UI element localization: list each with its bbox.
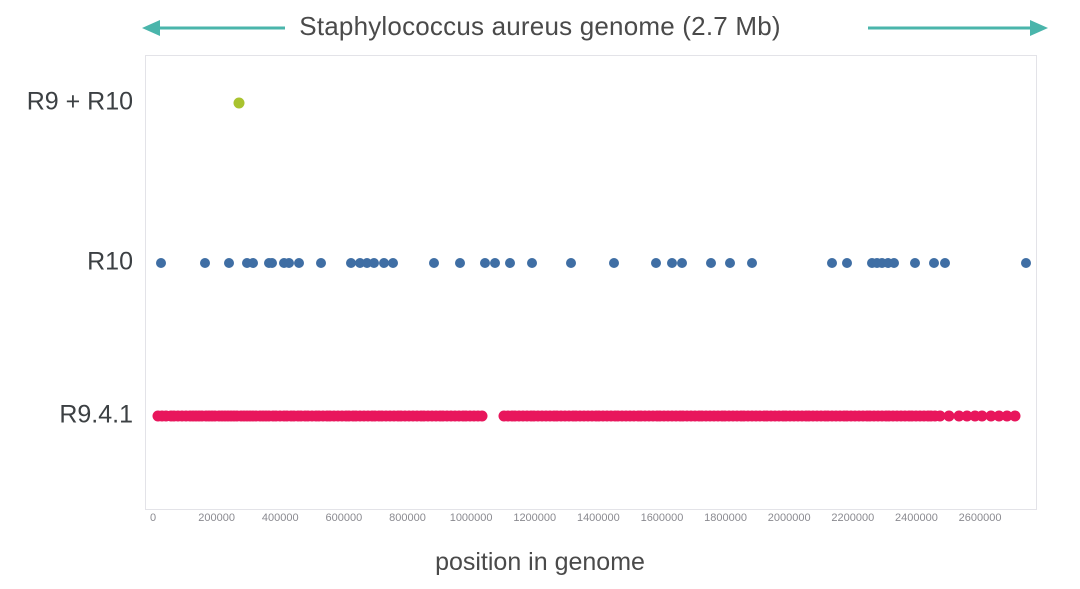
data-point	[505, 258, 515, 268]
y-category-label-r941: R9.4.1	[0, 401, 133, 430]
data-point	[234, 98, 245, 109]
data-point	[747, 258, 757, 268]
data-point	[455, 258, 465, 268]
data-point	[200, 258, 210, 268]
data-point	[842, 258, 852, 268]
data-point	[429, 258, 439, 268]
data-point	[527, 258, 537, 268]
data-point	[677, 258, 687, 268]
data-point	[490, 258, 500, 268]
data-point	[910, 258, 920, 268]
x-axis-tick-label: 400000	[262, 512, 299, 524]
y-category-label-r10: R10	[0, 248, 133, 277]
data-point	[706, 258, 716, 268]
x-axis-ticks: 0200000400000600000800000100000012000001…	[145, 512, 1037, 534]
x-axis-tick-label: 800000	[389, 512, 426, 524]
data-point	[267, 258, 277, 268]
data-point	[476, 411, 487, 422]
data-point	[316, 258, 326, 268]
x-axis-tick-label: 0	[150, 512, 156, 524]
figure-header: Staphylococcus aureus genome (2.7 Mb)	[0, 6, 1080, 46]
data-point	[725, 258, 735, 268]
data-point	[667, 258, 677, 268]
data-point	[1021, 258, 1031, 268]
x-axis-tick-label: 1400000	[577, 512, 620, 524]
x-axis-tick-label: 2000000	[768, 512, 811, 524]
figure-canvas: Staphylococcus aureus genome (2.7 Mb) R9…	[0, 0, 1080, 589]
data-point	[1009, 411, 1020, 422]
data-point	[156, 258, 166, 268]
data-point	[379, 258, 389, 268]
plot-area	[145, 55, 1037, 510]
x-axis-title: position in genome	[0, 548, 1080, 577]
data-point	[929, 258, 939, 268]
data-point	[369, 258, 379, 268]
data-point	[827, 258, 837, 268]
x-axis-tick-label: 200000	[198, 512, 235, 524]
data-point	[294, 258, 304, 268]
x-axis-tick-label: 2400000	[895, 512, 938, 524]
x-axis-tick-label: 600000	[326, 512, 363, 524]
data-point	[889, 258, 899, 268]
data-point	[566, 258, 576, 268]
x-axis-tick-label: 2200000	[831, 512, 874, 524]
data-point	[388, 258, 398, 268]
x-axis-tick-label: 1000000	[450, 512, 493, 524]
y-category-label-r9-r10: R9 + R10	[0, 88, 133, 117]
x-axis-tick-label: 1600000	[641, 512, 684, 524]
data-points-layer	[146, 56, 1036, 509]
x-axis-tick-label: 2600000	[959, 512, 1002, 524]
data-point	[651, 258, 661, 268]
x-axis-tick-label: 1800000	[704, 512, 747, 524]
data-point	[609, 258, 619, 268]
data-point	[284, 258, 294, 268]
x-axis-tick-label: 1200000	[513, 512, 556, 524]
data-point	[940, 258, 950, 268]
figure-title: Staphylococcus aureus genome (2.7 Mb)	[285, 11, 794, 42]
arrow-right-icon	[868, 20, 1048, 36]
data-point	[480, 258, 490, 268]
data-point	[248, 258, 258, 268]
data-point	[224, 258, 234, 268]
